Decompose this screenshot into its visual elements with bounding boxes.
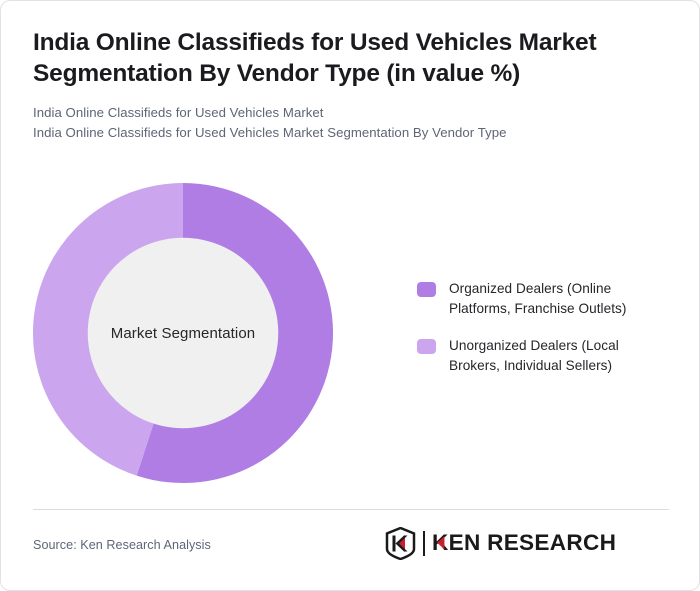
source-note: Source: Ken Research Analysis (33, 538, 211, 552)
ken-research-wordmark-icon: KEN RESEARCH (432, 530, 669, 556)
donut-svg (33, 183, 333, 483)
page-title: India Online Classifieds for Used Vehicl… (33, 27, 658, 89)
subtitle-line-1: India Online Classifieds for Used Vehicl… (33, 103, 658, 123)
footer-divider (33, 509, 669, 510)
legend-label: Organized Dealers (Online Platforms, Fra… (449, 279, 667, 318)
ken-research-logo: KEN RESEARCH (385, 523, 669, 563)
ken-research-k-badge-icon (385, 527, 416, 560)
subtitle-group: India Online Classifieds for Used Vehicl… (33, 103, 658, 142)
chart-area: Market Segmentation Organized Dealers (O… (1, 171, 700, 501)
chart-legend: Organized Dealers (Online Platforms, Fra… (417, 279, 667, 393)
svg-text:KEN RESEARCH: KEN RESEARCH (432, 530, 616, 555)
donut-hole (88, 238, 279, 429)
logo-separator (423, 531, 425, 556)
legend-item-unorganized-dealers[interactable]: Unorganized Dealers (Local Brokers, Indi… (417, 336, 667, 375)
legend-item-organized-dealers[interactable]: Organized Dealers (Online Platforms, Fra… (417, 279, 667, 318)
subtitle-line-2: India Online Classifieds for Used Vehicl… (33, 123, 658, 143)
legend-swatch-icon (417, 339, 436, 354)
legend-label: Unorganized Dealers (Local Brokers, Indi… (449, 336, 667, 375)
legend-swatch-icon (417, 282, 436, 297)
chart-card: India Online Classifieds for Used Vehicl… (0, 0, 700, 591)
chart-header: India Online Classifieds for Used Vehicl… (33, 27, 658, 142)
donut-chart: Market Segmentation (33, 183, 333, 483)
